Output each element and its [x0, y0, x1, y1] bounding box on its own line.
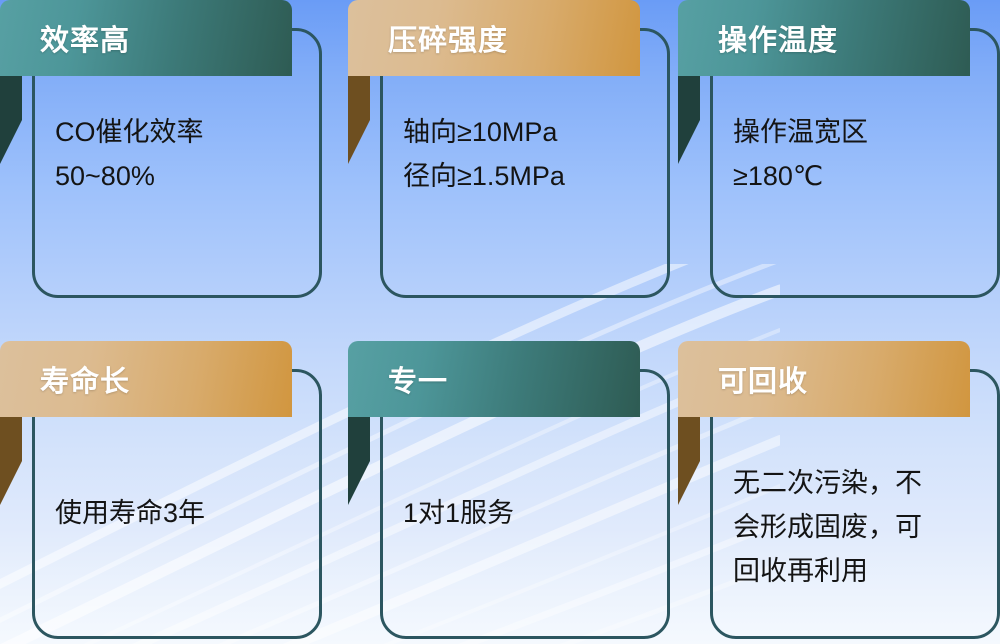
feature-card-1[interactable]: 效率高 CO催化效率 50~80%	[0, 0, 292, 248]
feature-card-6[interactable]: 可回收 无二次污染，不 会形成固废，可 回收再利用	[678, 341, 970, 589]
card-title: 操作温度	[718, 17, 838, 59]
card-body-text: 操作温宽区 ≥180℃	[733, 110, 983, 198]
card-title: 寿命长	[40, 358, 130, 400]
card-title: 效率高	[40, 17, 130, 59]
card-fold-corner	[348, 76, 392, 164]
card-banner: 操作温度	[678, 0, 970, 76]
card-title: 压碎强度	[388, 17, 508, 59]
card-banner: 寿命长	[0, 341, 292, 417]
infographic-canvas: 效率高 CO催化效率 50~80% 压碎强度 轴向≥10MPa 径向≥1.5MP…	[0, 0, 1000, 644]
feature-card-2[interactable]: 压碎强度 轴向≥10MPa 径向≥1.5MPa	[348, 0, 640, 248]
card-banner: 可回收	[678, 341, 970, 417]
card-banner: 压碎强度	[348, 0, 640, 76]
card-title: 专一	[388, 358, 448, 400]
card-body-text: 轴向≥10MPa 径向≥1.5MPa	[403, 110, 653, 198]
card-fold-corner	[678, 76, 722, 164]
feature-card-4[interactable]: 寿命长 使用寿命3年	[0, 341, 292, 589]
card-banner: 专一	[348, 341, 640, 417]
card-body-text: CO催化效率 50~80%	[55, 110, 305, 198]
card-fold-corner	[348, 417, 392, 505]
card-body-text: 使用寿命3年	[55, 491, 305, 535]
card-fold-corner	[678, 417, 722, 505]
card-body-text: 1对1服务	[403, 491, 653, 535]
card-title: 可回收	[718, 358, 808, 400]
card-body-text: 无二次污染，不 会形成固废，可 回收再利用	[733, 461, 983, 593]
card-fold-corner	[0, 76, 44, 164]
feature-card-5[interactable]: 专一 1对1服务	[348, 341, 640, 589]
card-banner: 效率高	[0, 0, 292, 76]
feature-card-3[interactable]: 操作温度 操作温宽区 ≥180℃	[678, 0, 970, 248]
card-fold-corner	[0, 417, 44, 505]
